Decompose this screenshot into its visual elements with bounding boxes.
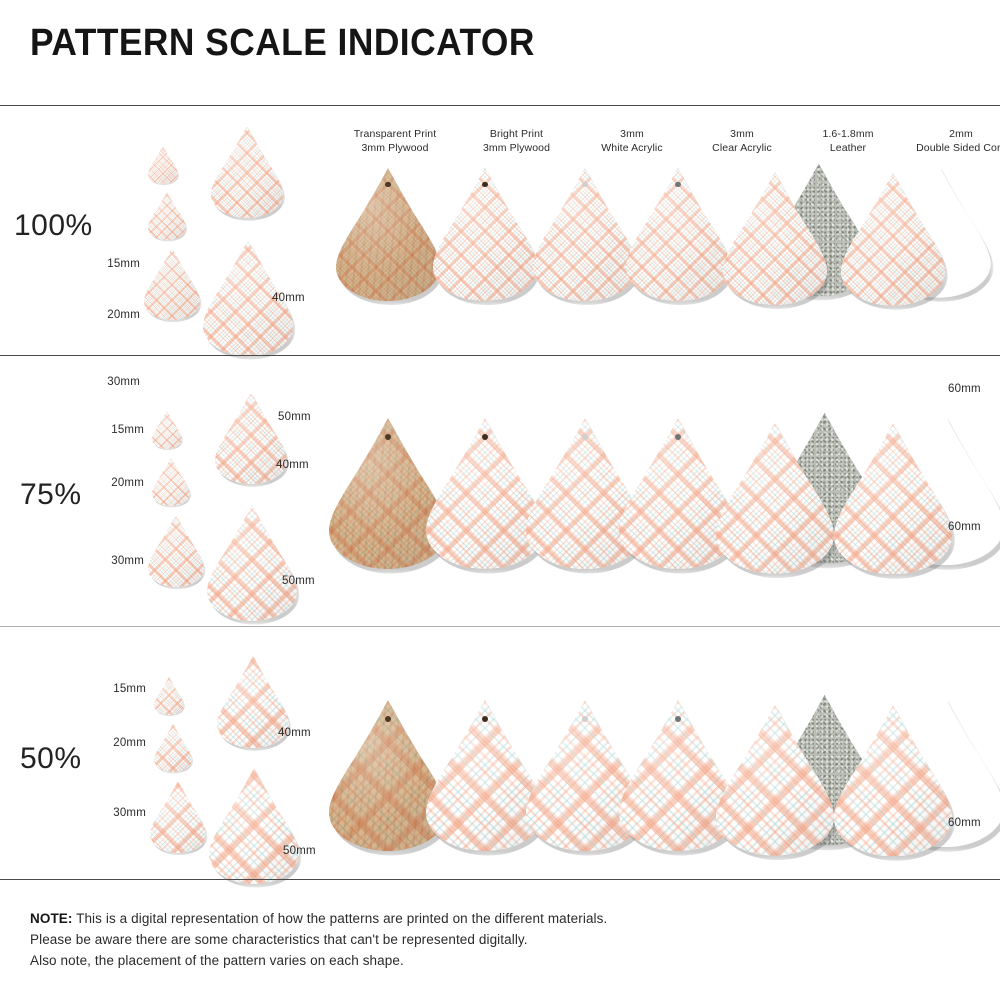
column-header-line1: Bright Print [490,128,543,140]
sample-100-20mm [148,192,186,240]
swatch-100-white-acrylic [533,168,637,301]
surface-shading [533,168,637,301]
column-header-line1: 2mm [949,128,973,140]
swatch-50-cork-front [834,705,952,856]
size-label-60mm: 60mm [948,521,981,533]
hanging-hole [582,434,588,440]
surface-shading [716,423,834,574]
note-line-2: Please be aware there are some character… [30,929,607,950]
sample-100-40mm [211,126,283,218]
sample-75-30mm [148,515,204,587]
drop-body-bright-print [148,515,204,587]
column-header-line1: 3mm [730,128,754,140]
drop-body-bright-print [152,411,182,449]
scale-label-75: 75% [20,478,82,512]
drop-body-bright-print [152,458,190,506]
surface-shading [336,168,440,301]
size-label-50mm: 50mm [282,575,315,587]
note-line-3: Also note, the placement of the pattern … [30,950,607,971]
sample-75-50mm [207,505,297,621]
surface-shading [144,248,200,320]
size-label-20mm: 20mm [113,737,146,749]
sample-50-30mm [150,781,206,853]
hanging-hole [385,434,391,440]
surface-shading [626,168,730,301]
hanging-hole [582,182,587,187]
scale-label-50: 50% [20,742,82,776]
drop-body-cork [841,173,945,306]
divider-top [0,105,1000,106]
drop-body-bright-print [148,192,186,240]
drop-body-leather [716,705,834,856]
drop-body-bright-print [144,248,200,320]
drop-body-bright-print [154,677,184,715]
size-label-20mm: 20mm [111,477,144,489]
column-header-line2: White Acrylic [572,142,692,156]
surface-shading [152,458,190,506]
size-label-15mm: 15mm [107,258,140,270]
swatch-75-leather-front [716,423,834,574]
column-header-line2: 3mm Plywood [454,142,579,156]
size-label-30mm: 30mm [113,807,146,819]
column-header-line1: 1.6-1.8mm [822,128,873,140]
hanging-hole [675,434,681,440]
swatch-100-bright-print-plywood [433,168,537,301]
drop-body-leather [723,172,827,305]
surface-shading [834,423,952,574]
size-label-30mm: 30mm [107,376,140,388]
drop-body-bright-print [148,146,178,184]
hanging-hole [482,182,487,187]
size-label-60mm: 60mm [948,383,981,395]
sample-100-30mm [144,248,200,320]
drop-body-bright-print [209,768,299,884]
drop-body-cork [834,423,952,574]
size-label-15mm: 15mm [113,683,146,695]
column-header-transparent-print-plywood: Transparent Print 3mm Plywood [330,128,460,155]
sample-75-15mm [152,411,182,449]
column-header-double-sided-cork: 2mm Double Sided Cork [886,128,1000,155]
sample-50-20mm [154,724,192,772]
size-label-40mm: 40mm [278,727,311,739]
hanging-hole [675,182,680,187]
column-header-line2: 3mm Plywood [330,142,460,156]
hanging-hole [385,182,390,187]
drop-body-bright-print [207,505,297,621]
drop-body-bright-print [154,724,192,772]
column-header-line1: 3mm [620,128,644,140]
drop-body-white-acrylic [533,168,637,301]
divider-row-75-50 [0,626,1000,627]
hanging-hole [582,716,588,722]
swatch-100-transparent-print-plywood [336,168,440,301]
note-line-1: NOTE: This is a digital representation o… [30,908,607,929]
swatch-100-clear-acrylic [626,168,730,301]
surface-shading [207,505,297,621]
drop-body-clear-acrylic [626,168,730,301]
surface-shading [148,192,186,240]
surface-shading [716,705,834,856]
note-block: NOTE: This is a digital representation o… [30,908,607,971]
surface-shading [150,781,206,853]
page-title: PATTERN SCALE INDICATOR [30,24,535,62]
swatch-100-cork-front [841,173,945,306]
surface-shading [834,705,952,856]
surface-shading [841,173,945,306]
column-header-clear-acrylic: 3mm Clear Acrylic [682,128,802,155]
size-label-50mm: 50mm [283,845,316,857]
column-header-line2: Double Sided Cork [886,142,1000,156]
hanging-hole [482,434,488,440]
surface-shading [154,677,184,715]
surface-shading [148,146,178,184]
size-label-15mm: 15mm [111,424,144,436]
hanging-hole [482,716,488,722]
column-header-bright-print-plywood: Bright Print 3mm Plywood [454,128,579,155]
drop-body-transparent-plywood [336,168,440,301]
hanging-hole [675,716,681,722]
swatch-100-leather-front [723,172,827,305]
column-header-white-acrylic: 3mm White Acrylic [572,128,692,155]
sample-75-20mm [152,458,190,506]
size-label-50mm: 50mm [278,411,311,423]
size-label-40mm: 40mm [272,292,305,304]
sample-100-15mm [148,146,178,184]
size-label-30mm: 30mm [111,555,144,567]
swatch-75-cork-front [834,423,952,574]
swatch-50-leather-front [716,705,834,856]
drop-body-bright-print [150,781,206,853]
drop-body-leather [716,423,834,574]
surface-shading [211,126,283,218]
size-label-60mm: 60mm [948,817,981,829]
surface-shading [433,168,537,301]
column-header-line2: Clear Acrylic [682,142,802,156]
surface-shading [154,724,192,772]
column-header-line1: Transparent Print [354,128,436,140]
hanging-hole [385,716,391,722]
surface-shading [152,411,182,449]
sample-50-15mm [154,677,184,715]
drop-body-cork [834,705,952,856]
surface-shading [209,768,299,884]
sample-50-50mm [209,768,299,884]
size-label-40mm: 40mm [276,459,309,471]
divider-row-100-75 [0,355,1000,356]
drop-body-bright-print [211,126,283,218]
note-label: NOTE: [30,911,73,926]
drop-body-bright-plywood [433,168,537,301]
surface-shading [148,515,204,587]
surface-shading [723,172,827,305]
scale-label-100: 100% [14,209,93,243]
divider-note [0,879,1000,880]
size-label-20mm: 20mm [107,309,140,321]
